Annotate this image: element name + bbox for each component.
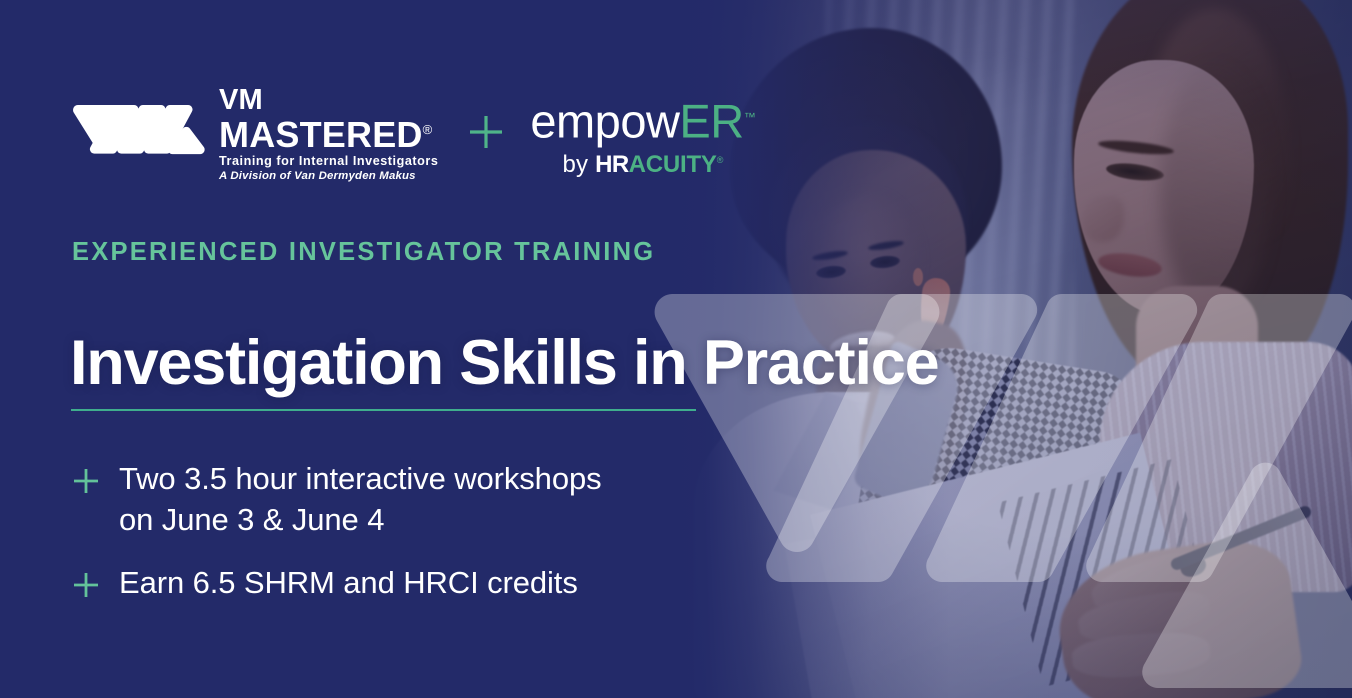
vm-logo-tagline-2: A Division of Van Dermyden Makus xyxy=(219,169,438,184)
empower-wordmark: empowER™ xyxy=(530,92,755,147)
eyebrow-label: EXPERIENCED INVESTIGATOR TRAINING xyxy=(72,237,655,267)
plus-icon xyxy=(72,571,100,599)
list-item: Earn 6.5 SHRM and HRCI credits xyxy=(72,562,732,603)
list-item-label: Two 3.5 hour interactive workshops on Ju… xyxy=(119,458,602,540)
trademark-mark: ™ xyxy=(744,110,756,124)
registered-mark-small: ® xyxy=(717,155,724,165)
bullet-list: Two 3.5 hour interactive workshops on Ju… xyxy=(72,458,732,603)
page-title: Investigation Skills in Practice xyxy=(70,325,938,401)
vm-mastered-logo: VM MASTERED® Training for Internal Inves… xyxy=(72,84,438,184)
banner-content: VM MASTERED® Training for Internal Inves… xyxy=(0,0,760,698)
hracuity-byline: by HRACUITY® xyxy=(530,147,755,178)
registered-mark: ® xyxy=(423,122,433,137)
vm-logo-line1: VM xyxy=(219,87,438,113)
plus-icon xyxy=(468,114,504,155)
vm-logo-tagline-1: Training for Internal Investigators xyxy=(219,153,438,169)
plus-icon xyxy=(72,467,100,495)
promo-banner: VM MASTERED® Training for Internal Inves… xyxy=(0,0,1352,698)
logo-lockup-row: VM MASTERED® Training for Internal Inves… xyxy=(72,84,756,184)
divider xyxy=(71,409,696,411)
vm-logo-line2: MASTERED® xyxy=(219,113,438,152)
vm-chevron-mark-icon xyxy=(72,103,206,165)
empower-hracuity-logo: empowER™ by HRACUITY® xyxy=(530,90,755,179)
list-item: Two 3.5 hour interactive workshops on Ju… xyxy=(72,458,732,540)
list-item-label: Earn 6.5 SHRM and HRCI credits xyxy=(119,562,578,603)
